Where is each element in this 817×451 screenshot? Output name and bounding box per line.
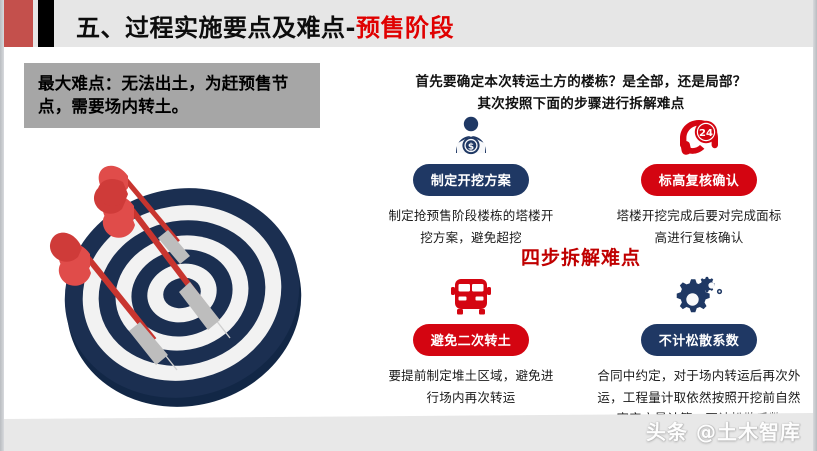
page-title-main: 五、过程实施要点及难点- — [76, 14, 356, 42]
lead-line-1: 首先要确定本次转运土方的楼栋？是全部，还是局部？ — [355, 70, 807, 90]
dartboard-illustration — [22, 150, 352, 420]
callout-text: 最大难点：无法出土，为赶预售节点，需要场内转土。 — [38, 73, 310, 119]
step-4-pill[interactable]: 不计松散系数 — [641, 324, 757, 356]
step-card-3: 避免二次转土 要提前制定堆土区域，避免进 行场内再次转运 — [358, 274, 584, 408]
bus-icon — [358, 274, 584, 320]
step-2-desc-line-1: 塔楼开挖完成后要对完成面标 — [586, 205, 812, 227]
title-accent-block-black — [38, 0, 54, 47]
page-title-accent: 预售阶段 — [356, 14, 454, 42]
step-3-desc-line-2: 行场内再次转运 — [358, 387, 584, 409]
title-accent-block-red — [4, 0, 33, 47]
person-money-icon: $ — [358, 114, 584, 160]
gears-icon — [586, 274, 812, 320]
step-4-desc-line-2: 运，工程量计取依然按照开挖前自然 — [586, 387, 812, 409]
svg-text:24: 24 — [699, 128, 713, 139]
step-2-description: 塔楼开挖完成后要对完成面标 高进行复核确认 — [586, 205, 812, 248]
slide-canvas: 五、过程实施要点及难点-预售阶段 最大难点：无法出土，为赶预售节点，需要场内转土… — [0, 0, 817, 451]
step-card-4: 不计松散系数 合同中约定，对于场内转运后再次外 运，工程量计取依然按照开挖前自然… — [586, 274, 812, 430]
step-3-desc-line-1: 要提前制定堆土区域，避免进 — [358, 365, 584, 387]
step-3-pill[interactable]: 避免二次转土 — [413, 324, 529, 356]
step-card-2: 24 标高复核确认 塔楼开挖完成后要对完成面标 高进行复核确认 — [586, 114, 812, 248]
step-card-1: $ 制定开挖方案 制定抢预售阶段楼栋的塔楼开 挖方案，避免超挖 — [358, 114, 584, 248]
watermark: 头条 @土木智库 — [646, 416, 801, 445]
step-2-pill[interactable]: 标高复核确认 — [641, 164, 757, 196]
step-3-description: 要提前制定堆土区域，避免进 行场内再次转运 — [358, 365, 584, 408]
step-4-desc-line-1: 合同中约定，对于场内转运后再次外 — [586, 365, 812, 387]
svg-text:$: $ — [468, 142, 474, 152]
lead-line-2: 其次按照下面的步骤进行拆解难点 — [355, 92, 807, 112]
callout-box: 最大难点：无法出土，为赶预售节点，需要场内转土。 — [24, 63, 320, 128]
phone-24h-icon: 24 — [586, 114, 812, 160]
step-1-pill[interactable]: 制定开挖方案 — [413, 164, 529, 196]
section-heading: 四步拆解难点 — [355, 243, 807, 270]
step-1-description: 制定抢预售阶段楼栋的塔楼开 挖方案，避免超挖 — [358, 205, 584, 248]
step-1-desc-line-1: 制定抢预售阶段楼栋的塔楼开 — [358, 205, 584, 227]
page-edge-left — [0, 0, 4, 451]
page-title: 五、过程实施要点及难点-预售阶段 — [76, 8, 454, 43]
page-edge-right — [813, 0, 817, 451]
